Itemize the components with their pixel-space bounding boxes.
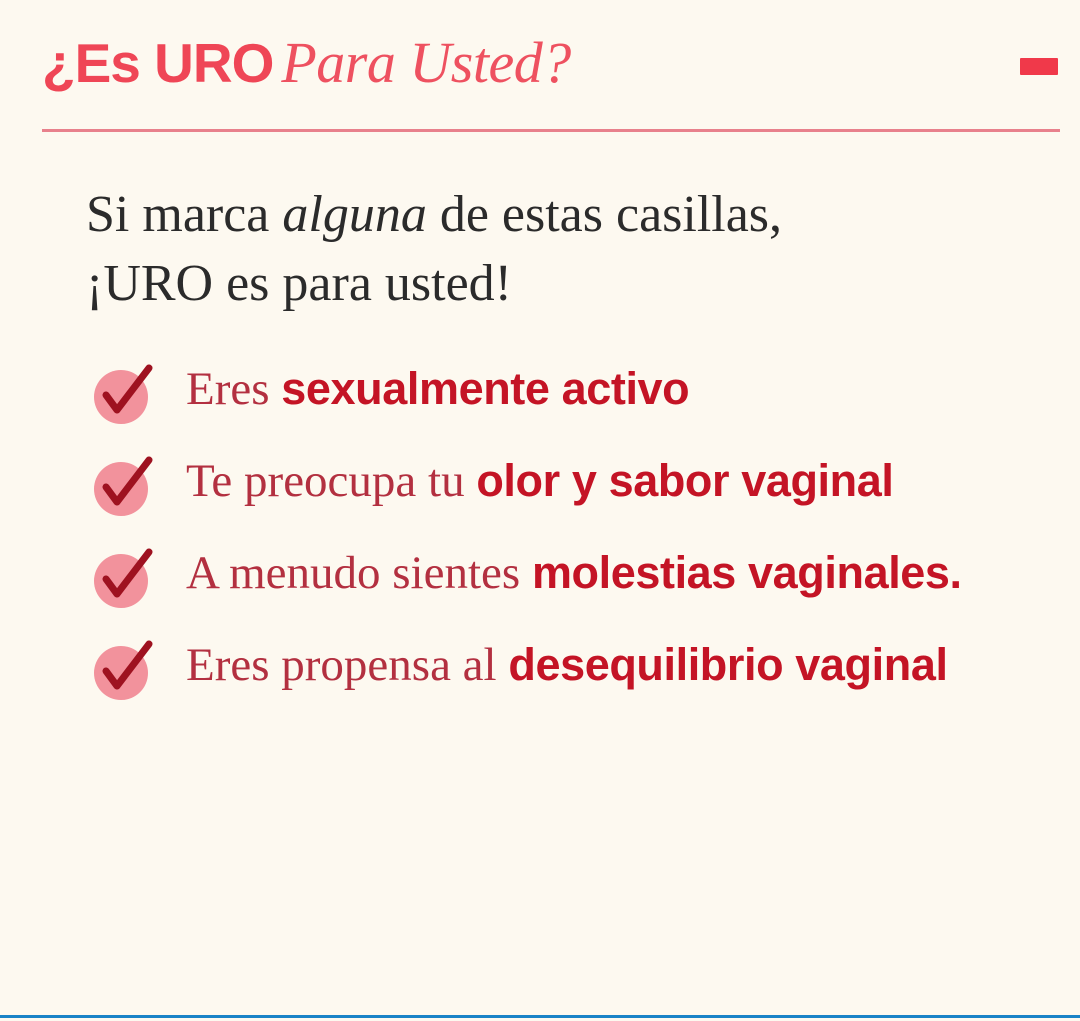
- list-item-strong: sexualmente activo: [281, 363, 689, 414]
- list-item-plain: Te preocupa tu: [186, 455, 476, 507]
- list-item-plain: Eres: [186, 363, 281, 415]
- intro-text-emphasis: alguna: [282, 186, 426, 243]
- section-header: ¿Es UROPara Usted?: [0, 0, 1080, 104]
- footer-divider: [0, 1015, 1080, 1018]
- intro-text-before: Si marca: [86, 186, 282, 243]
- list-item-strong: olor y sabor vaginal: [476, 455, 893, 506]
- list-item[interactable]: Eres sexualmente activo: [92, 362, 1050, 426]
- intro-paragraph: Si marca alguna de estas casillas, ¡URO …: [0, 104, 1080, 318]
- check-icon[interactable]: [92, 460, 150, 518]
- page-title: ¿Es UROPara Usted?: [42, 34, 1060, 92]
- intro-text-line2: ¡URO es para usted!: [86, 255, 512, 312]
- list-item-plain: Eres propensa al: [186, 639, 508, 691]
- list-item-label: Te preocupa tu olor y sabor vaginal: [186, 454, 893, 509]
- checklist: Eres sexualmente activo Te preocupa tu o…: [0, 318, 1080, 702]
- check-icon[interactable]: [92, 552, 150, 610]
- list-item-plain: A menudo sientes: [186, 547, 532, 599]
- check-icon-glyph: [92, 638, 154, 700]
- check-icon[interactable]: [92, 368, 150, 426]
- list-item[interactable]: Te preocupa tu olor y sabor vaginal: [92, 454, 1050, 518]
- list-item[interactable]: Eres propensa al desequilibrio vaginal: [92, 638, 1050, 702]
- list-item-label: Eres sexualmente activo: [186, 362, 689, 417]
- check-icon-glyph: [92, 454, 154, 516]
- list-item-label: A menudo sientes molestias vaginales.: [186, 546, 962, 601]
- list-item[interactable]: A menudo sientes molestias vaginales.: [92, 546, 1050, 610]
- list-item-strong: molestias vaginales.: [532, 547, 962, 598]
- check-icon-glyph: [92, 546, 154, 608]
- intro-text-after: de estas casillas,: [427, 186, 782, 243]
- page-title-italic: Para Usted?: [273, 30, 570, 95]
- list-item-strong: desequilibrio vaginal: [508, 639, 947, 690]
- check-icon[interactable]: [92, 644, 150, 702]
- page-title-bold: ¿Es URO: [42, 32, 273, 94]
- page-root: ¿Es UROPara Usted? Si marca alguna de es…: [0, 0, 1080, 1021]
- check-icon-glyph: [92, 362, 154, 424]
- minus-icon[interactable]: [1020, 58, 1058, 75]
- list-item-label: Eres propensa al desequilibrio vaginal: [186, 638, 948, 693]
- header-divider: [42, 129, 1060, 132]
